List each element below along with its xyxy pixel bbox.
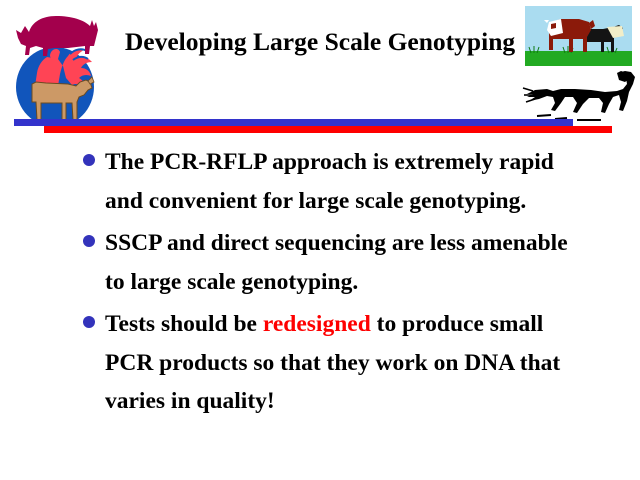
- cattle-photo-icon: [525, 6, 632, 66]
- bullet-text: Tests should be redesigned to produce sm…: [0, 305, 640, 421]
- presentation-slide: Developing Large Scale Genotyping The PC…: [0, 0, 640, 480]
- list-item: Tests should be redesigned to produce sm…: [0, 305, 640, 421]
- divider-bar-red: [44, 126, 612, 133]
- text-run: Tests should be: [105, 311, 263, 337]
- bullet-dot-icon: [83, 154, 95, 166]
- text-run: SSCP and direct sequencing are less amen…: [105, 230, 568, 295]
- bullet-dot-icon: [83, 235, 95, 247]
- livestock-logo-icon: [6, 2, 106, 128]
- bullet-dot-icon: [83, 316, 95, 328]
- bullet-text: SSCP and direct sequencing are less amen…: [0, 224, 640, 301]
- bullet-list: The PCR-RFLP approach is extremely rapid…: [0, 143, 640, 425]
- slide-header: Developing Large Scale Genotyping: [0, 0, 640, 136]
- galloping-horse-icon: [521, 70, 637, 125]
- page-title: Developing Large Scale Genotyping: [120, 26, 520, 57]
- highlighted-word: redesigned: [263, 311, 371, 337]
- bullet-text: The PCR-RFLP approach is extremely rapid…: [0, 143, 640, 220]
- list-item: The PCR-RFLP approach is extremely rapid…: [0, 143, 640, 220]
- divider-bar-blue: [14, 119, 573, 126]
- list-item: SSCP and direct sequencing are less amen…: [0, 224, 640, 301]
- text-run: The PCR-RFLP approach is extremely rapid…: [105, 149, 554, 214]
